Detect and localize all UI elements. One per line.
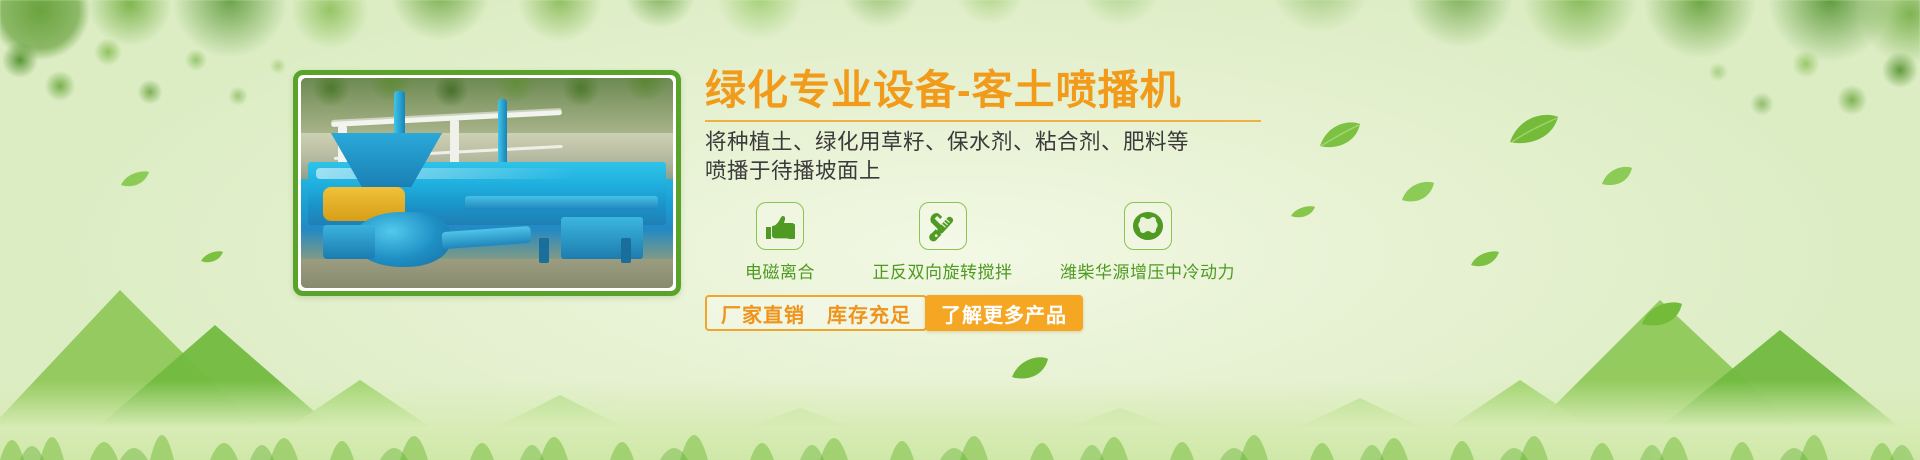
selling-point-tag-1: 厂家直销 bbox=[721, 299, 805, 328]
top-left-foliage-decoration bbox=[0, 0, 340, 150]
cta-row: 厂家直销 库存充足 了解更多产品 bbox=[705, 295, 1325, 331]
banner-content: 绿化专业设备-客土喷播机 将种植土、绿化用草籽、保水剂、粘合剂、肥料等 喷播于待… bbox=[705, 68, 1325, 331]
feature-item-weichai-power: 潍柴华源增压中冷动力 bbox=[1030, 202, 1265, 283]
promo-banner: 绿化专业设备-客土喷播机 将种植土、绿化用草籽、保水剂、粘合剂、肥料等 喷播于待… bbox=[0, 0, 1920, 460]
floating-leaf-icon bbox=[200, 250, 224, 269]
photo-ground bbox=[301, 259, 673, 288]
feature-label: 正反双向旋转搅拌 bbox=[855, 258, 1030, 283]
floating-leaf-icon bbox=[1010, 355, 1050, 386]
photo-control-box bbox=[561, 217, 643, 259]
selling-point-tag-2: 库存充足 bbox=[827, 299, 911, 328]
feature-item-electromagnetic-clutch: 电磁离合 bbox=[705, 202, 855, 283]
photo-beam bbox=[465, 196, 658, 211]
floating-leaf-icon bbox=[1640, 300, 1684, 333]
product-photo bbox=[293, 70, 681, 296]
photo-pipe bbox=[498, 99, 507, 166]
photo-motor bbox=[323, 225, 375, 259]
floating-leaf-icon bbox=[1508, 112, 1560, 151]
photo-leg bbox=[621, 238, 631, 263]
floating-leaf-icon bbox=[1470, 250, 1500, 273]
feature-label: 潍柴华源增压中冷动力 bbox=[1030, 258, 1265, 283]
floating-leaf-icon bbox=[120, 170, 150, 193]
engine-gear-icon bbox=[1124, 202, 1172, 250]
headline: 绿化专业设备-客土喷播机 bbox=[705, 68, 1325, 112]
wrench-screwdriver-icon bbox=[919, 202, 967, 250]
subline-1: 将种植土、绿化用草籽、保水剂、粘合剂、肥料等 bbox=[705, 128, 1325, 156]
photo-outlet-pipe bbox=[442, 226, 532, 249]
selling-point-tags: 厂家直销 库存充足 bbox=[705, 295, 927, 331]
thumbs-up-icon bbox=[756, 202, 804, 250]
subline-2: 喷播于待播坡面上 bbox=[705, 157, 1325, 185]
floating-leaf-icon bbox=[1600, 165, 1634, 192]
headline-divider bbox=[705, 120, 1261, 122]
feature-label: 电磁离合 bbox=[705, 258, 855, 283]
feature-list: 电磁离合 正反双向旋转搅拌 bbox=[705, 202, 1325, 283]
learn-more-button[interactable]: 了解更多产品 bbox=[925, 295, 1083, 331]
grass-decoration bbox=[0, 380, 1920, 460]
floating-leaf-icon bbox=[1400, 180, 1436, 209]
photo-leg bbox=[539, 238, 549, 263]
feature-item-bidirectional-mixing: 正反双向旋转搅拌 bbox=[855, 202, 1030, 283]
top-right-foliage-decoration bbox=[1500, 0, 1920, 160]
